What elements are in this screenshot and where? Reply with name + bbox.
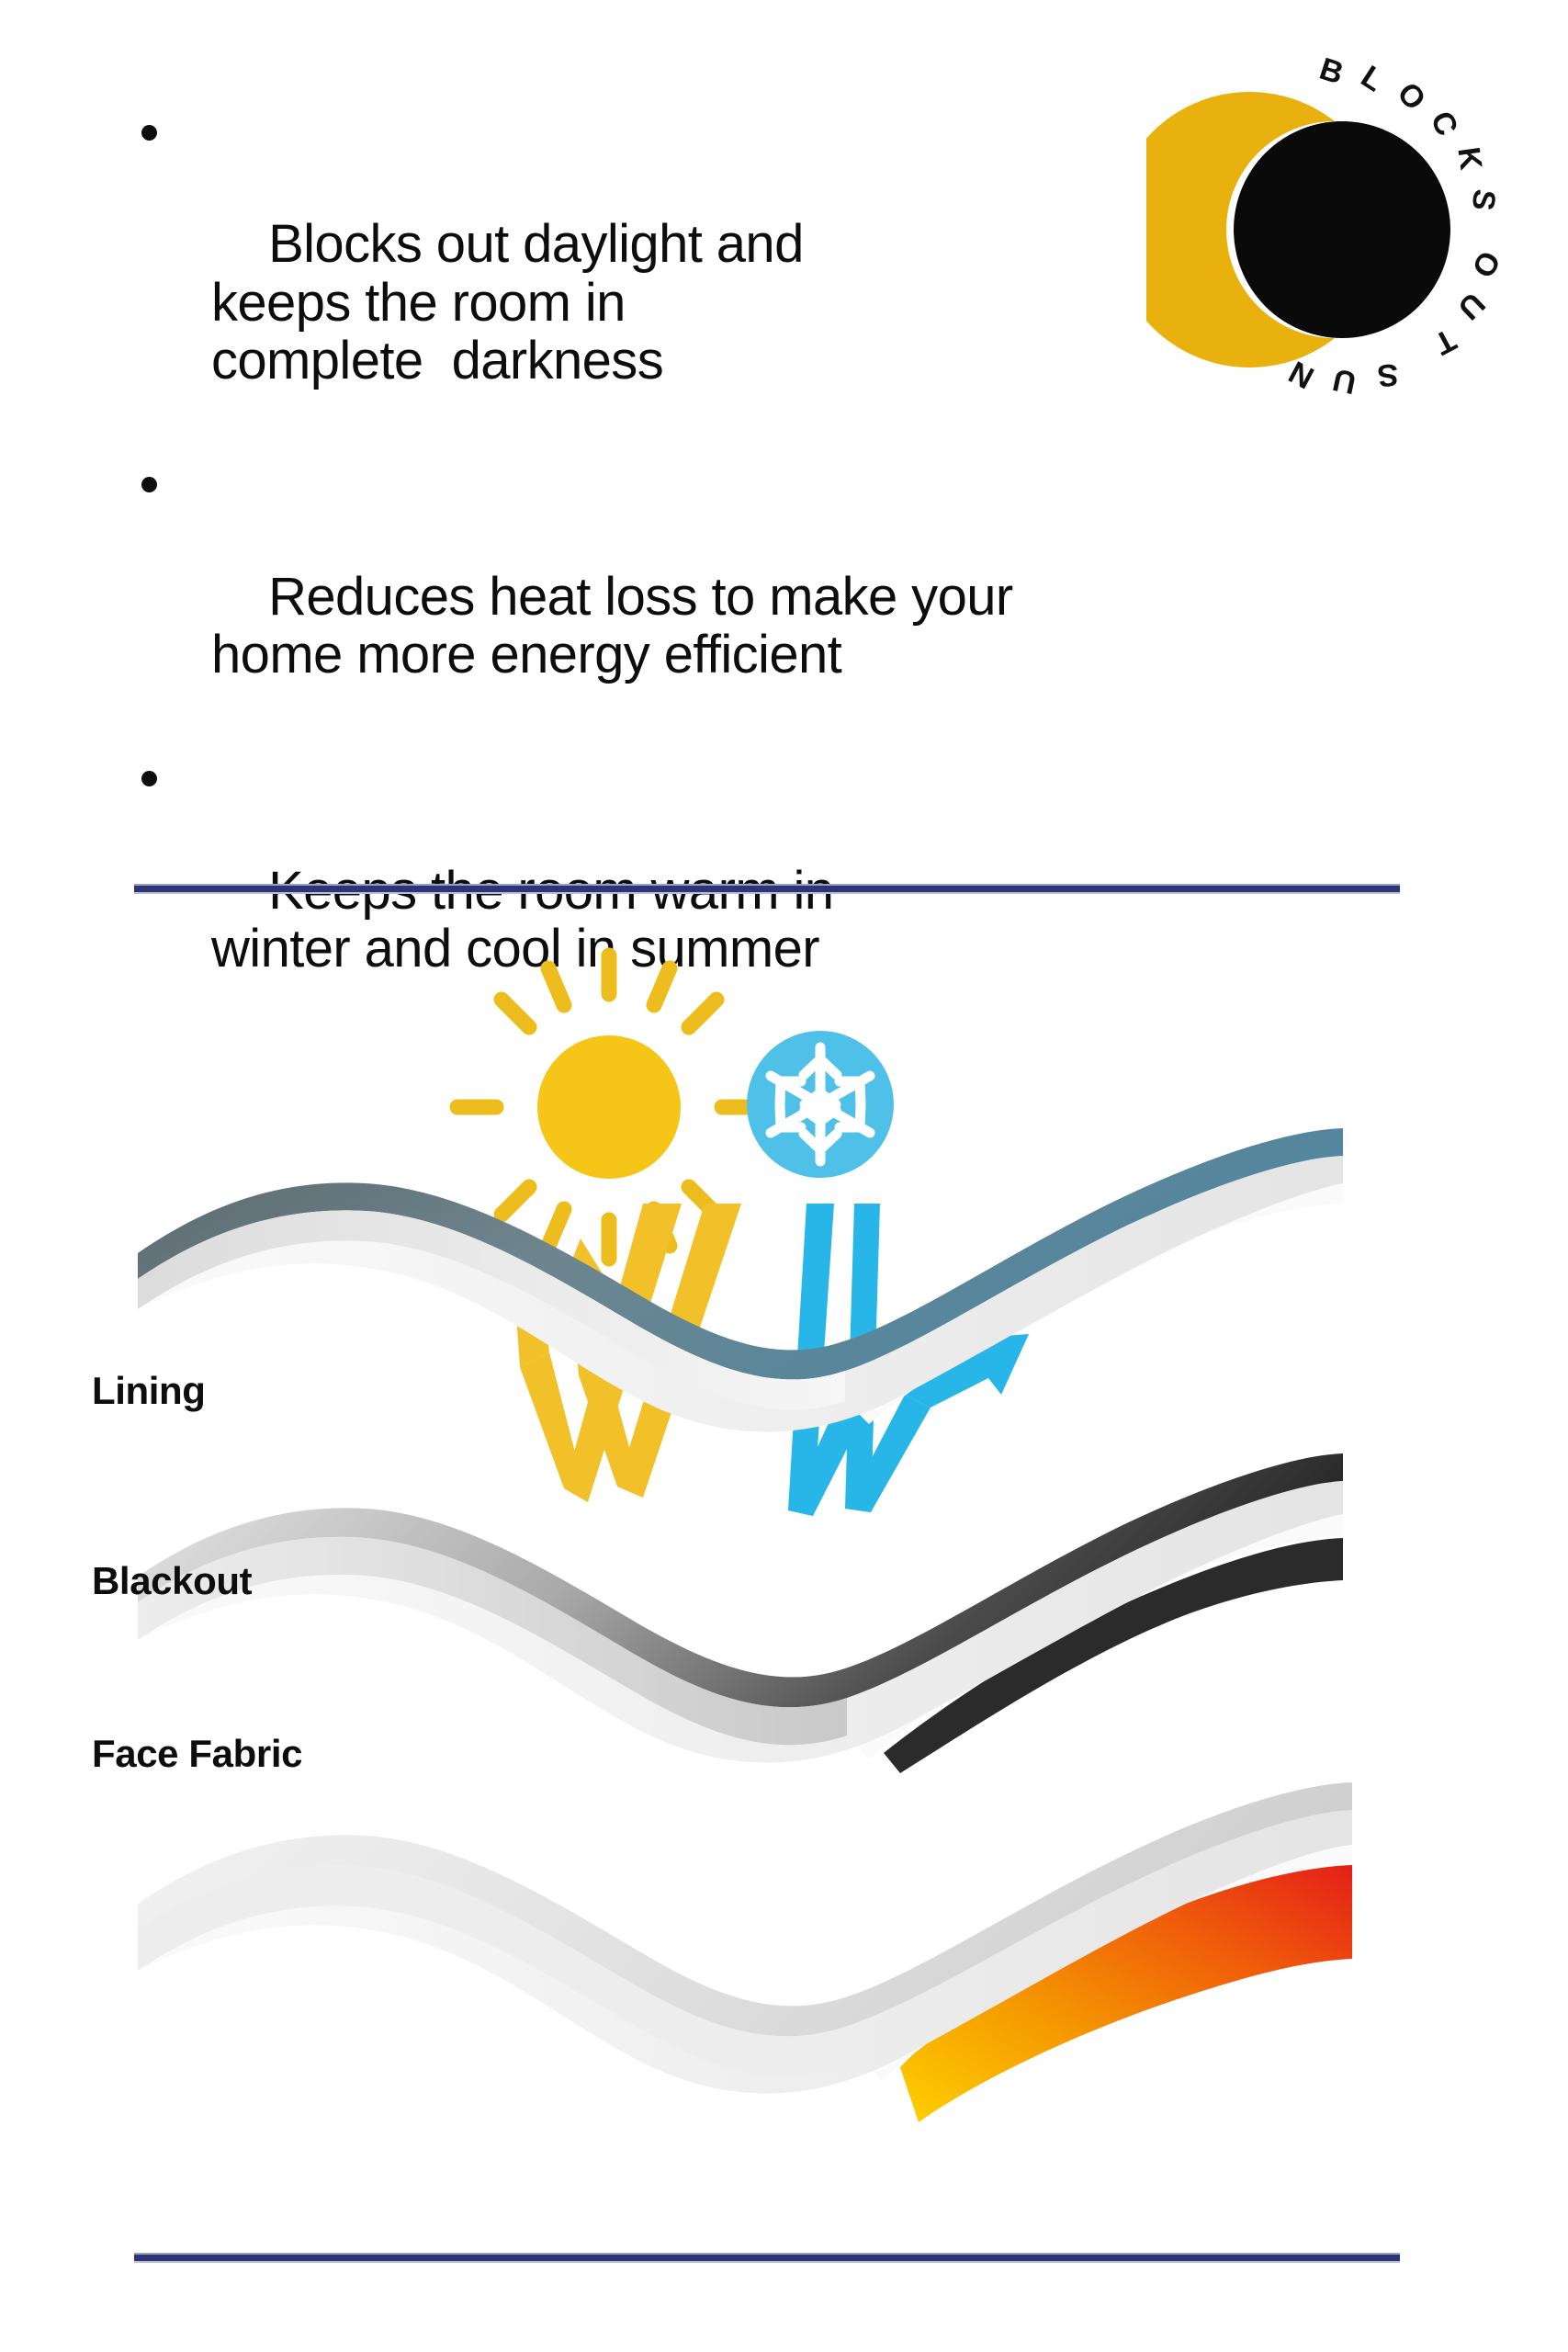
benefit-item-2: Reduces heat loss to make your home more… [121, 451, 1132, 741]
badge-letter-6: S [1464, 187, 1502, 213]
fabric-layer-diagram: Lining Blackout Face Fabric [0, 928, 1568, 2196]
benefit-item-1: Blocks out daylight and keeps the room i… [121, 99, 1132, 447]
badge-letter-7: O [1464, 245, 1506, 284]
benefit-text-1: Blocks out daylight and keeps the room i… [211, 214, 804, 390]
blocks-out-sun-badge: B L O C K S O U T S U N [1146, 55, 1514, 423]
badge-letter-1: B [1315, 55, 1348, 91]
layer-label-blackout: Blackout [92, 1559, 252, 1603]
benefit-text-2: Reduces heat loss to make your home more… [211, 567, 1013, 684]
badge-letter-5: K [1450, 145, 1488, 173]
bullet-dot-icon [141, 477, 157, 492]
badge-letter-8: U [1451, 286, 1492, 326]
badge-letter-3: O [1390, 76, 1432, 118]
badge-letter-2: L [1355, 59, 1390, 98]
badge-letter-4: C [1424, 107, 1465, 141]
badge-letter-10: S [1376, 356, 1399, 392]
bullet-dot-icon [141, 771, 157, 786]
layer-label-lining: Lining [92, 1369, 206, 1413]
layer-label-face-fabric: Face Fabric [92, 1732, 302, 1776]
layer-label-group: Lining Blackout Face Fabric [0, 928, 1568, 2196]
benefits-list: Blocks out daylight and keeps the room i… [121, 99, 1132, 1040]
badge-letter-9: T [1428, 322, 1461, 361]
divider-top [134, 884, 1400, 894]
bullet-dot-icon [141, 125, 157, 141]
divider-bottom [134, 2253, 1400, 2263]
badge-letter-11: U [1330, 362, 1359, 401]
